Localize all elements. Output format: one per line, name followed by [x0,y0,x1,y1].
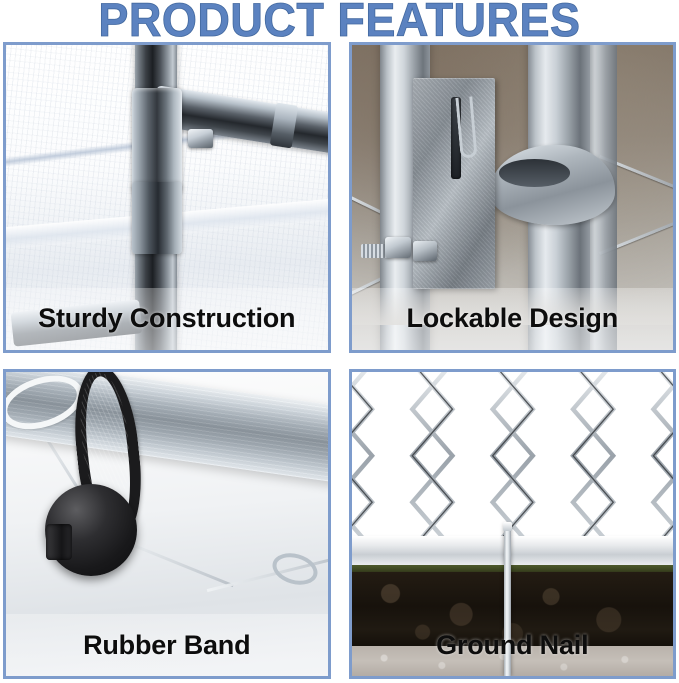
caption-label: Ground Nail [436,630,588,661]
feature-panel-lockable-design[interactable]: Lockable Design [349,42,677,353]
ground-nail-head [503,522,512,531]
hex-nut-inner [413,241,437,261]
feature-panel-sturdy-construction[interactable]: Sturdy Construction [3,42,331,353]
caption-label: Sturdy Construction [38,303,295,334]
caption-lockable-design: Lockable Design [352,288,674,350]
header-title-bar: PRODUCT FEATURES [0,0,679,40]
hex-bolt-icon [188,129,213,148]
feature-panel-grid: Sturdy Construction [3,42,676,679]
caption-rubber-band: Rubber Band [6,614,328,676]
latch-slot-opening [499,159,570,186]
hex-nut-outer [385,237,411,258]
feature-panel-ground-nail[interactable]: Ground Nail [349,369,677,680]
page-title: PRODUCT FEATURES [98,0,580,40]
caption-label: Lockable Design [406,303,618,334]
caption-label: Rubber Band [83,630,250,661]
pipe-joint-sleeve-lower [132,182,182,254]
caption-ground-nail: Ground Nail [352,614,674,676]
fence-base-rail [352,536,674,566]
pipe-joint-sleeve-upper [132,88,182,193]
feature-panel-rubber-band[interactable]: Rubber Band [3,369,331,680]
product-features-infographic: PRODUCT FEATURES Sturdy Constructio [0,0,679,683]
caption-sturdy-construction: Sturdy Construction [6,288,328,350]
rubber-ball-notch [46,524,72,560]
chain-link-mesh-icon [352,372,674,539]
